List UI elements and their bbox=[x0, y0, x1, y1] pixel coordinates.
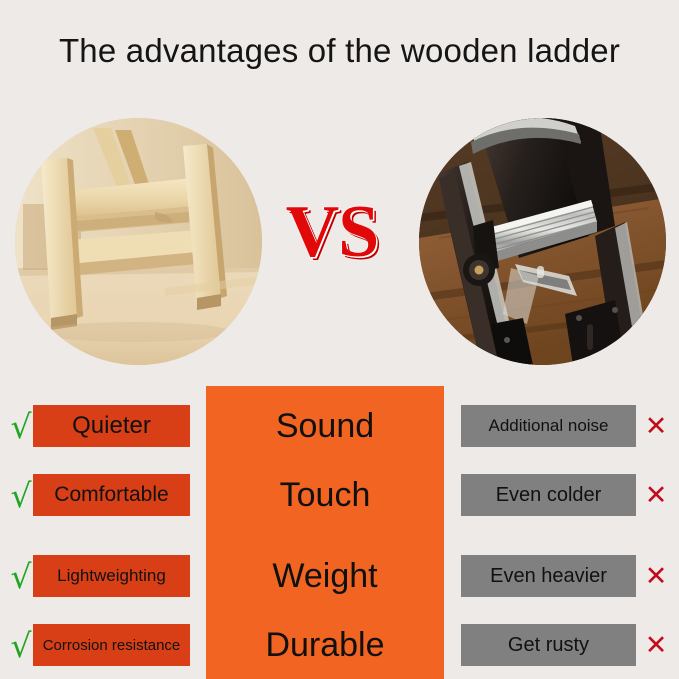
attribute-label-3: Durable bbox=[206, 619, 444, 671]
cross-icon: ✕ bbox=[641, 632, 671, 659]
wooden-ladder-illustration bbox=[15, 118, 262, 365]
cross-icon: ✕ bbox=[641, 482, 671, 509]
table-row: √ Comfortable Touch Even colder ✕ bbox=[0, 469, 679, 521]
con-label-3: Get rusty bbox=[461, 624, 636, 666]
check-icon: √ bbox=[6, 629, 36, 662]
versus-label: VS bbox=[272, 192, 392, 272]
pro-label-1: Comfortable bbox=[33, 474, 190, 516]
pro-label-2: Lightweighting bbox=[33, 555, 190, 597]
metal-ladder-photo bbox=[419, 118, 666, 365]
infographic-page: The advantages of the wooden ladder bbox=[0, 0, 679, 679]
con-label-1: Even colder bbox=[461, 474, 636, 516]
wooden-ladder-photo bbox=[15, 118, 262, 365]
check-icon: √ bbox=[6, 479, 36, 512]
cross-icon: ✕ bbox=[641, 563, 671, 590]
table-row: √ Quieter Sound Additional noise ✕ bbox=[0, 400, 679, 452]
comparison-table: √ Quieter Sound Additional noise ✕ √ Com… bbox=[0, 386, 679, 679]
con-label-2: Even heavier bbox=[461, 555, 636, 597]
check-icon: √ bbox=[6, 560, 36, 593]
cross-icon: ✕ bbox=[641, 413, 671, 440]
attribute-label-1: Touch bbox=[206, 469, 444, 521]
metal-ladder-illustration bbox=[419, 118, 666, 365]
attribute-label-2: Weight bbox=[206, 550, 444, 602]
table-row: √ Corrosion resistance Durable Get rusty… bbox=[0, 619, 679, 671]
page-title: The advantages of the wooden ladder bbox=[0, 32, 679, 70]
attribute-label-0: Sound bbox=[206, 400, 444, 452]
pro-label-0: Quieter bbox=[33, 405, 190, 447]
check-icon: √ bbox=[6, 410, 36, 443]
pro-label-3: Corrosion resistance bbox=[33, 624, 190, 666]
con-label-0: Additional noise bbox=[461, 405, 636, 447]
table-row: √ Lightweighting Weight Even heavier ✕ bbox=[0, 550, 679, 602]
